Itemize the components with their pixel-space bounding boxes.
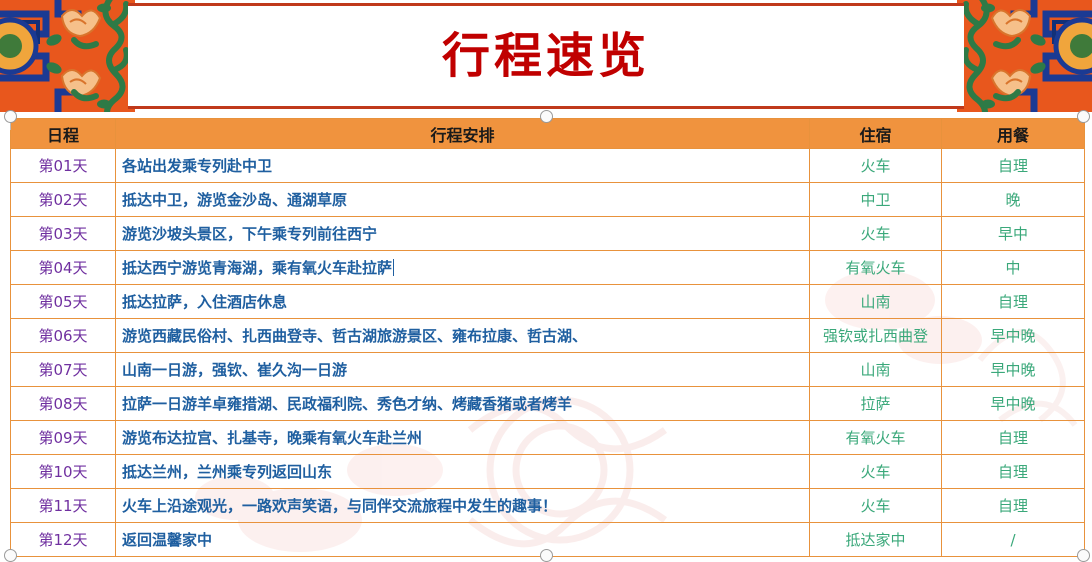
column-header-plan: 行程安排 [116, 119, 810, 149]
table-row[interactable]: 第02天抵达中卫，游览金沙岛、通湖草原中卫晚 [11, 183, 1085, 217]
cell-stay[interactable]: 拉萨 [810, 387, 942, 421]
table-row[interactable]: 第10天抵达兰州，兰州乘专列返回山东火车自理 [11, 455, 1085, 489]
cell-day[interactable]: 第02天 [11, 183, 116, 217]
cell-stay[interactable]: 火车 [810, 489, 942, 523]
cell-stay[interactable]: 火车 [810, 149, 942, 183]
cell-meal[interactable]: 自理 [942, 149, 1085, 183]
cell-meal[interactable]: 自理 [942, 285, 1085, 319]
cell-meal[interactable]: 早中晚 [942, 387, 1085, 421]
cell-meal[interactable]: 早中晚 [942, 319, 1085, 353]
cell-day[interactable]: 第05天 [11, 285, 116, 319]
cell-stay[interactable]: 火车 [810, 455, 942, 489]
cell-day[interactable]: 第06天 [11, 319, 116, 353]
cell-stay[interactable]: 中卫 [810, 183, 942, 217]
cell-meal[interactable]: / [942, 523, 1085, 557]
table-row[interactable]: 第04天抵达西宁游览青海湖，乘有氧火车赴拉萨有氧火车中 [11, 251, 1085, 285]
table-row[interactable]: 第06天游览西藏民俗村、扎西曲登寺、哲古湖旅游景区、雍布拉康、哲古湖、强钦或扎西… [11, 319, 1085, 353]
table-row[interactable]: 第07天山南一日游，强钦、崔久沟一日游山南早中晚 [11, 353, 1085, 387]
selection-handle-top-left[interactable] [4, 110, 17, 123]
cell-plan[interactable]: 抵达兰州，兰州乘专列返回山东 [116, 455, 810, 489]
cell-stay[interactable]: 山南 [810, 353, 942, 387]
cell-meal[interactable]: 自理 [942, 489, 1085, 523]
selection-handle-bottom-left[interactable] [4, 549, 17, 562]
selection-handle-bottom-center[interactable] [540, 549, 553, 562]
cell-day[interactable]: 第07天 [11, 353, 116, 387]
cell-plan[interactable]: 各站出发乘专列赴中卫 [116, 149, 810, 183]
cell-day[interactable]: 第09天 [11, 421, 116, 455]
selection-handle-top-center[interactable] [540, 110, 553, 123]
column-header-day: 日程 [11, 119, 116, 149]
cell-meal[interactable]: 自理 [942, 455, 1085, 489]
page-title: 行程速览 [0, 32, 1092, 80]
selection-handle-bottom-right[interactable] [1077, 549, 1090, 562]
cell-plan[interactable]: 山南一日游，强钦、崔久沟一日游 [116, 353, 810, 387]
cell-plan[interactable]: 抵达西宁游览青海湖，乘有氧火车赴拉萨 [116, 251, 810, 285]
itinerary-table[interactable]: 日程 行程安排 住宿 用餐 第01天各站出发乘专列赴中卫火车自理第02天抵达中卫… [10, 118, 1085, 557]
cell-stay[interactable]: 有氧火车 [810, 251, 942, 285]
title-banner: 行程速览 [0, 0, 1092, 112]
cell-day[interactable]: 第11天 [11, 489, 116, 523]
cell-plan[interactable]: 抵达拉萨，入住酒店休息 [116, 285, 810, 319]
table-row[interactable]: 第05天抵达拉萨，入住酒店休息山南自理 [11, 285, 1085, 319]
table-row[interactable]: 第01天各站出发乘专列赴中卫火车自理 [11, 149, 1085, 183]
table-body: 第01天各站出发乘专列赴中卫火车自理第02天抵达中卫，游览金沙岛、通湖草原中卫晚… [11, 149, 1085, 557]
cell-stay[interactable]: 山南 [810, 285, 942, 319]
table-row[interactable]: 第09天游览布达拉宫、扎基寺，晚乘有氧火车赴兰州有氧火车自理 [11, 421, 1085, 455]
cell-meal[interactable]: 中 [942, 251, 1085, 285]
table-row[interactable]: 第11天火车上沿途观光，一路欢声笑语，与同伴交流旅程中发生的趣事！火车自理 [11, 489, 1085, 523]
cell-day[interactable]: 第04天 [11, 251, 116, 285]
cell-plan[interactable]: 游览西藏民俗村、扎西曲登寺、哲古湖旅游景区、雍布拉康、哲古湖、 [116, 319, 810, 353]
cell-day[interactable]: 第01天 [11, 149, 116, 183]
cell-plan[interactable]: 抵达中卫，游览金沙岛、通湖草原 [116, 183, 810, 217]
cell-day[interactable]: 第08天 [11, 387, 116, 421]
cell-stay[interactable]: 强钦或扎西曲登 [810, 319, 942, 353]
cell-day[interactable]: 第12天 [11, 523, 116, 557]
table-row[interactable]: 第08天拉萨一日游羊卓雍措湖、民政福利院、秀色才纳、烤藏香猪或者烤羊拉萨早中晚 [11, 387, 1085, 421]
cell-meal[interactable]: 早中晚 [942, 353, 1085, 387]
column-header-stay: 住宿 [810, 119, 942, 149]
cell-day[interactable]: 第03天 [11, 217, 116, 251]
cell-meal[interactable]: 自理 [942, 421, 1085, 455]
table-row[interactable]: 第03天游览沙坡头景区，下午乘专列前往西宁火车早中 [11, 217, 1085, 251]
cell-plan[interactable]: 火车上沿途观光，一路欢声笑语，与同伴交流旅程中发生的趣事！ [116, 489, 810, 523]
cell-plan[interactable]: 游览沙坡头景区，下午乘专列前往西宁 [116, 217, 810, 251]
cell-meal[interactable]: 早中 [942, 217, 1085, 251]
table-header-row: 日程 行程安排 住宿 用餐 [11, 119, 1085, 149]
cell-plan[interactable]: 拉萨一日游羊卓雍措湖、民政福利院、秀色才纳、烤藏香猪或者烤羊 [116, 387, 810, 421]
cell-meal[interactable]: 晚 [942, 183, 1085, 217]
cell-day[interactable]: 第10天 [11, 455, 116, 489]
cell-plan[interactable]: 游览布达拉宫、扎基寺，晚乘有氧火车赴兰州 [116, 421, 810, 455]
selection-handle-top-right[interactable] [1077, 110, 1090, 123]
column-header-meal: 用餐 [942, 119, 1085, 149]
text-caret [393, 259, 394, 276]
cell-plan[interactable]: 返回温馨家中 [116, 523, 810, 557]
itinerary-table-container[interactable]: 日程 行程安排 住宿 用餐 第01天各站出发乘专列赴中卫火车自理第02天抵达中卫… [10, 118, 1084, 557]
cell-stay[interactable]: 火车 [810, 217, 942, 251]
cell-stay[interactable]: 有氧火车 [810, 421, 942, 455]
cell-stay[interactable]: 抵达家中 [810, 523, 942, 557]
